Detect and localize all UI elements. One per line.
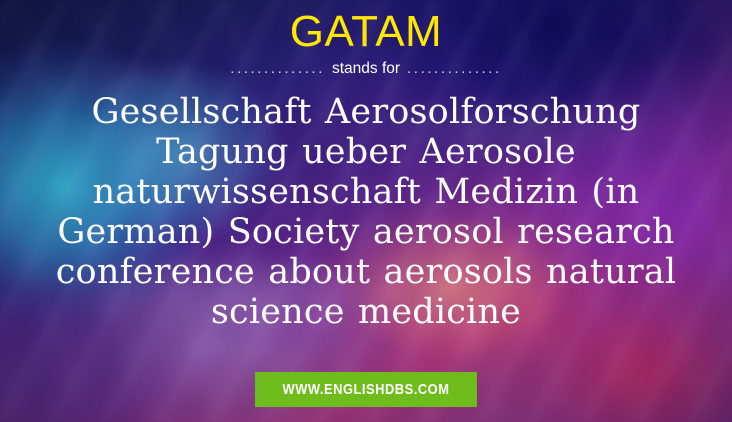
cta-container: WWW.ENGLISHDBS.COM: [0, 372, 732, 407]
acronym-definition-card: GATAM .............. stands for ........…: [0, 0, 732, 422]
website-cta-button[interactable]: WWW.ENGLISHDBS.COM: [255, 372, 477, 407]
acronym-title: GATAM: [290, 9, 442, 55]
card-content: GATAM .............. stands for ........…: [0, 0, 732, 422]
stands-for-row: .............. stands for ..............: [230, 60, 502, 77]
dotted-rule-left: ..............: [230, 60, 325, 77]
stands-for-label: stands for: [332, 60, 400, 77]
dotted-rule-right: ..............: [407, 60, 502, 77]
acronym-expansion-text: Gesellschaft Aerosolforschung Tagung ueb…: [36, 92, 696, 332]
